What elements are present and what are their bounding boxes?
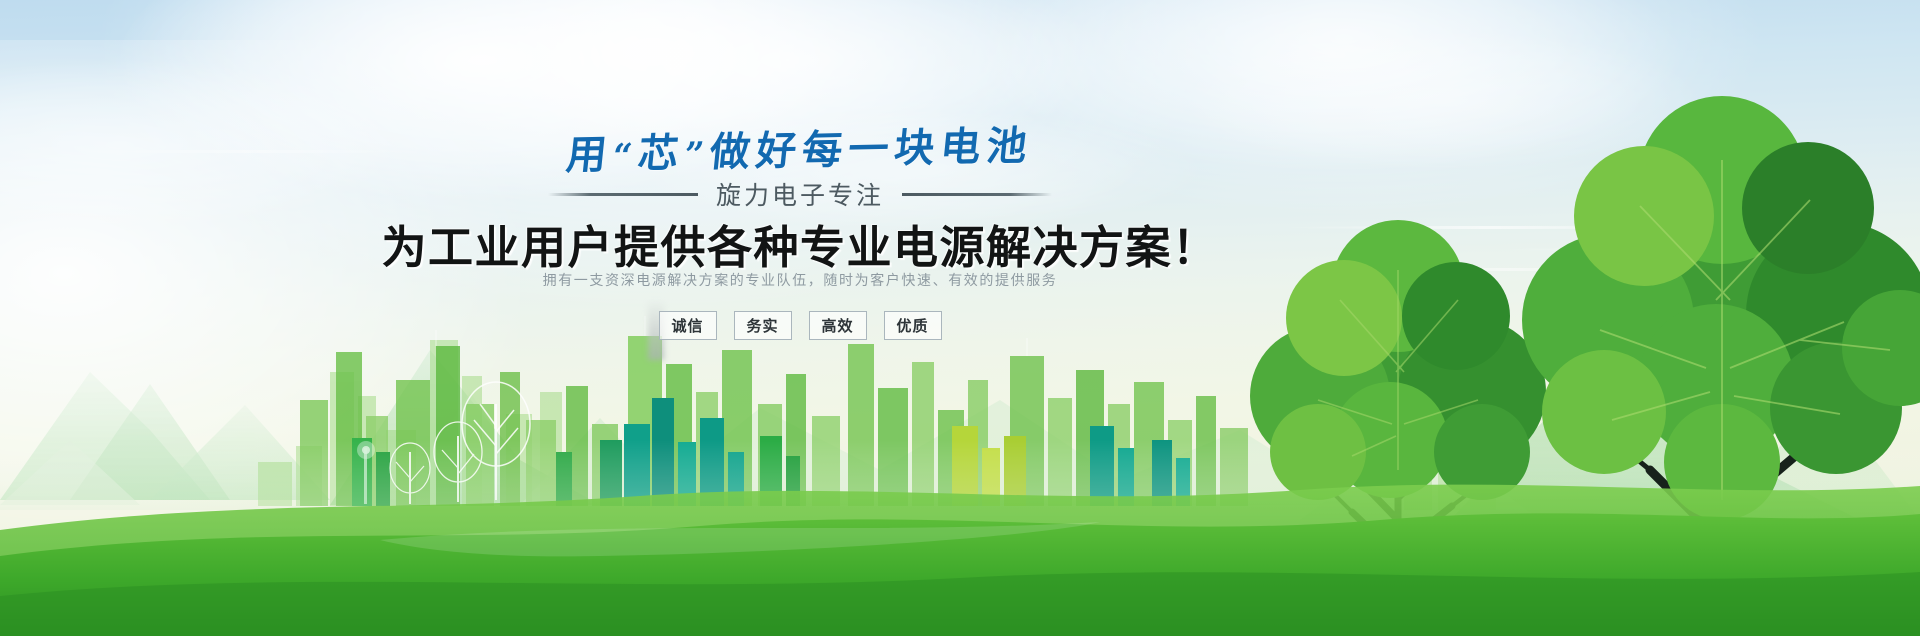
- subtitle: 拥有一支资深电源解决方案的专业队伍，随时为客户快速、有效的提供服务: [0, 270, 1600, 290]
- hero-banner: 用“芯”做好每一块电池 旋力电子专注 为工业用户提供各种专业电源解决方案！ 拥有…: [0, 0, 1920, 636]
- rule-label: 旋力电子专注: [716, 176, 884, 212]
- badge-chengxin[interactable]: 诚信: [659, 311, 717, 340]
- hero-text-block: 用“芯”做好每一块电池 旋力电子专注 为工业用户提供各种专业电源解决方案！ 拥有…: [0, 0, 1920, 636]
- badge-gaoxiao[interactable]: 高效: [809, 311, 867, 340]
- rule-with-label: 旋力电子专注: [0, 176, 1600, 212]
- badge-wushi[interactable]: 务实: [734, 311, 792, 340]
- value-badges: 诚信 务实 高效 优质: [0, 311, 1600, 340]
- page-title: 为工业用户提供各种专业电源解决方案！: [0, 211, 1600, 276]
- rule-left: [548, 193, 698, 196]
- badge-youzhi[interactable]: 优质: [884, 311, 942, 340]
- calligraphy-keyword: 芯: [636, 129, 687, 177]
- calligraphy-pre: 用: [564, 131, 615, 179]
- calligraphy-post: 做好每一块电池: [708, 122, 1036, 176]
- rule-right: [902, 193, 1052, 196]
